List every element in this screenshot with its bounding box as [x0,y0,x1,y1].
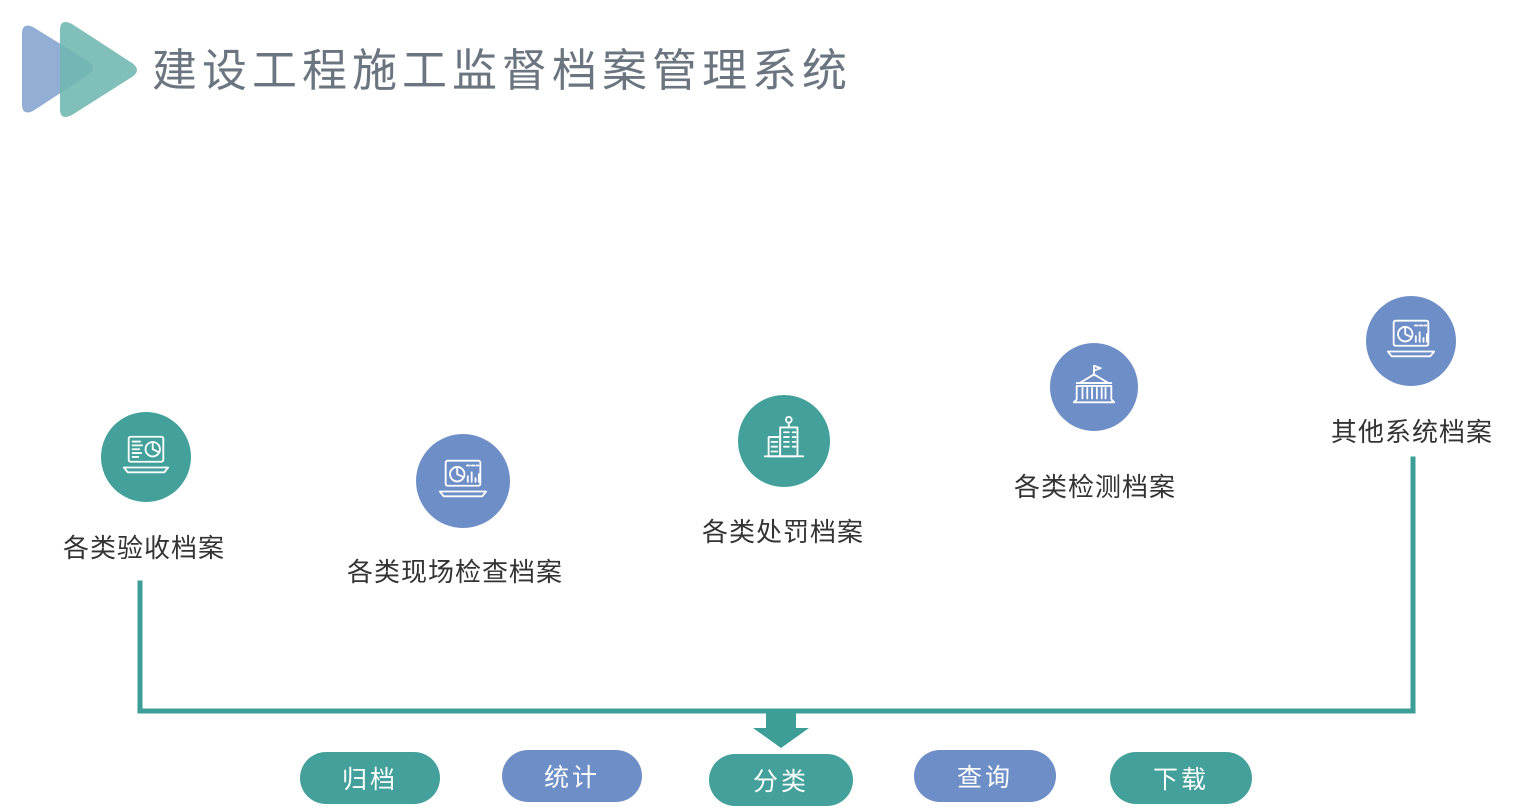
laptop-pie-chart-icon [121,432,171,483]
government-building-icon [1069,362,1119,413]
laptop-dashboard-chart-icon [1385,316,1437,367]
download-button[interactable]: 下载 [1110,752,1252,804]
node-circle-acceptance[interactable] [101,412,191,502]
node-circle-penalty[interactable] [738,395,830,487]
node-circle-site-inspection[interactable] [416,434,510,528]
page-title: 建设工程施工监督档案管理系统 [152,34,852,99]
archive-node-label-site-inspection: 各类现场检查档案 [347,552,563,589]
laptop-dashboard-chart-icon [437,456,489,507]
archive-button[interactable]: 归档 [300,752,440,804]
classify-button[interactable]: 分类 [709,754,853,806]
node-circle-other-systems[interactable] [1366,296,1456,386]
archive-node-label-testing: 各类检测档案 [1014,467,1176,504]
query-button[interactable]: 查询 [914,750,1056,802]
archive-node-label-acceptance: 各类验收档案 [63,528,225,565]
archive-node-label-penalty: 各类处罚档案 [702,512,864,549]
statistics-button[interactable]: 统计 [502,750,642,802]
page-header: 建设工程施工监督档案管理系统 [0,0,1513,140]
double-play-triangle-logo-icon [14,16,142,124]
diagram-canvas: 建设工程施工监督档案管理系统 各类验收档案 [0,0,1513,810]
buildings-icon [761,414,807,469]
node-circle-testing[interactable] [1050,343,1138,431]
action-button-row: 归档 统计 分类 查询 下载 [0,750,1513,810]
archive-node-label-other-systems: 其他系统档案 [1331,412,1493,449]
